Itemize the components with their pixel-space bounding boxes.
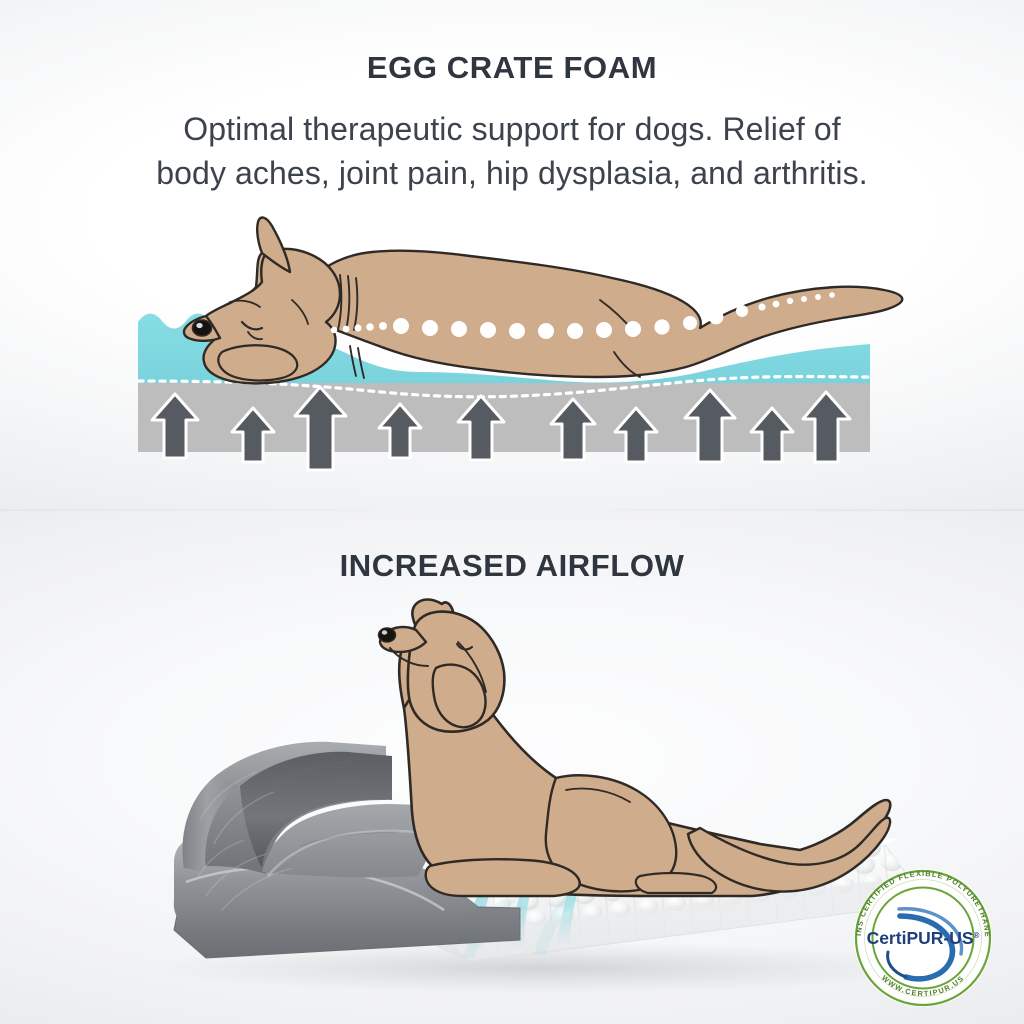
badge-center-part2: PUR-US	[906, 928, 973, 948]
dog-rear-paw	[636, 873, 716, 893]
top-illustration-dog-on-foam	[138, 217, 902, 470]
badge-center-text: CertiPUR-US®	[867, 928, 980, 948]
illustrations-stage: CertiPUR-US® CONTAINS CERTIFIED FLEXIBLE…	[0, 0, 1024, 1024]
dog-nose	[193, 320, 212, 336]
badge-center-part1: Certi	[867, 928, 907, 948]
sitting-dog-figure	[379, 600, 891, 897]
dog-nose	[379, 628, 396, 642]
bottom-illustration-dog-on-bed	[150, 600, 930, 995]
dog-front-paw	[218, 345, 297, 380]
badge-registered-mark: ®	[974, 931, 980, 940]
product-feature-infographic: EGG CRATE FOAM Optimal therapeutic suppo…	[0, 0, 1024, 1024]
dog-front-paw	[426, 859, 580, 896]
